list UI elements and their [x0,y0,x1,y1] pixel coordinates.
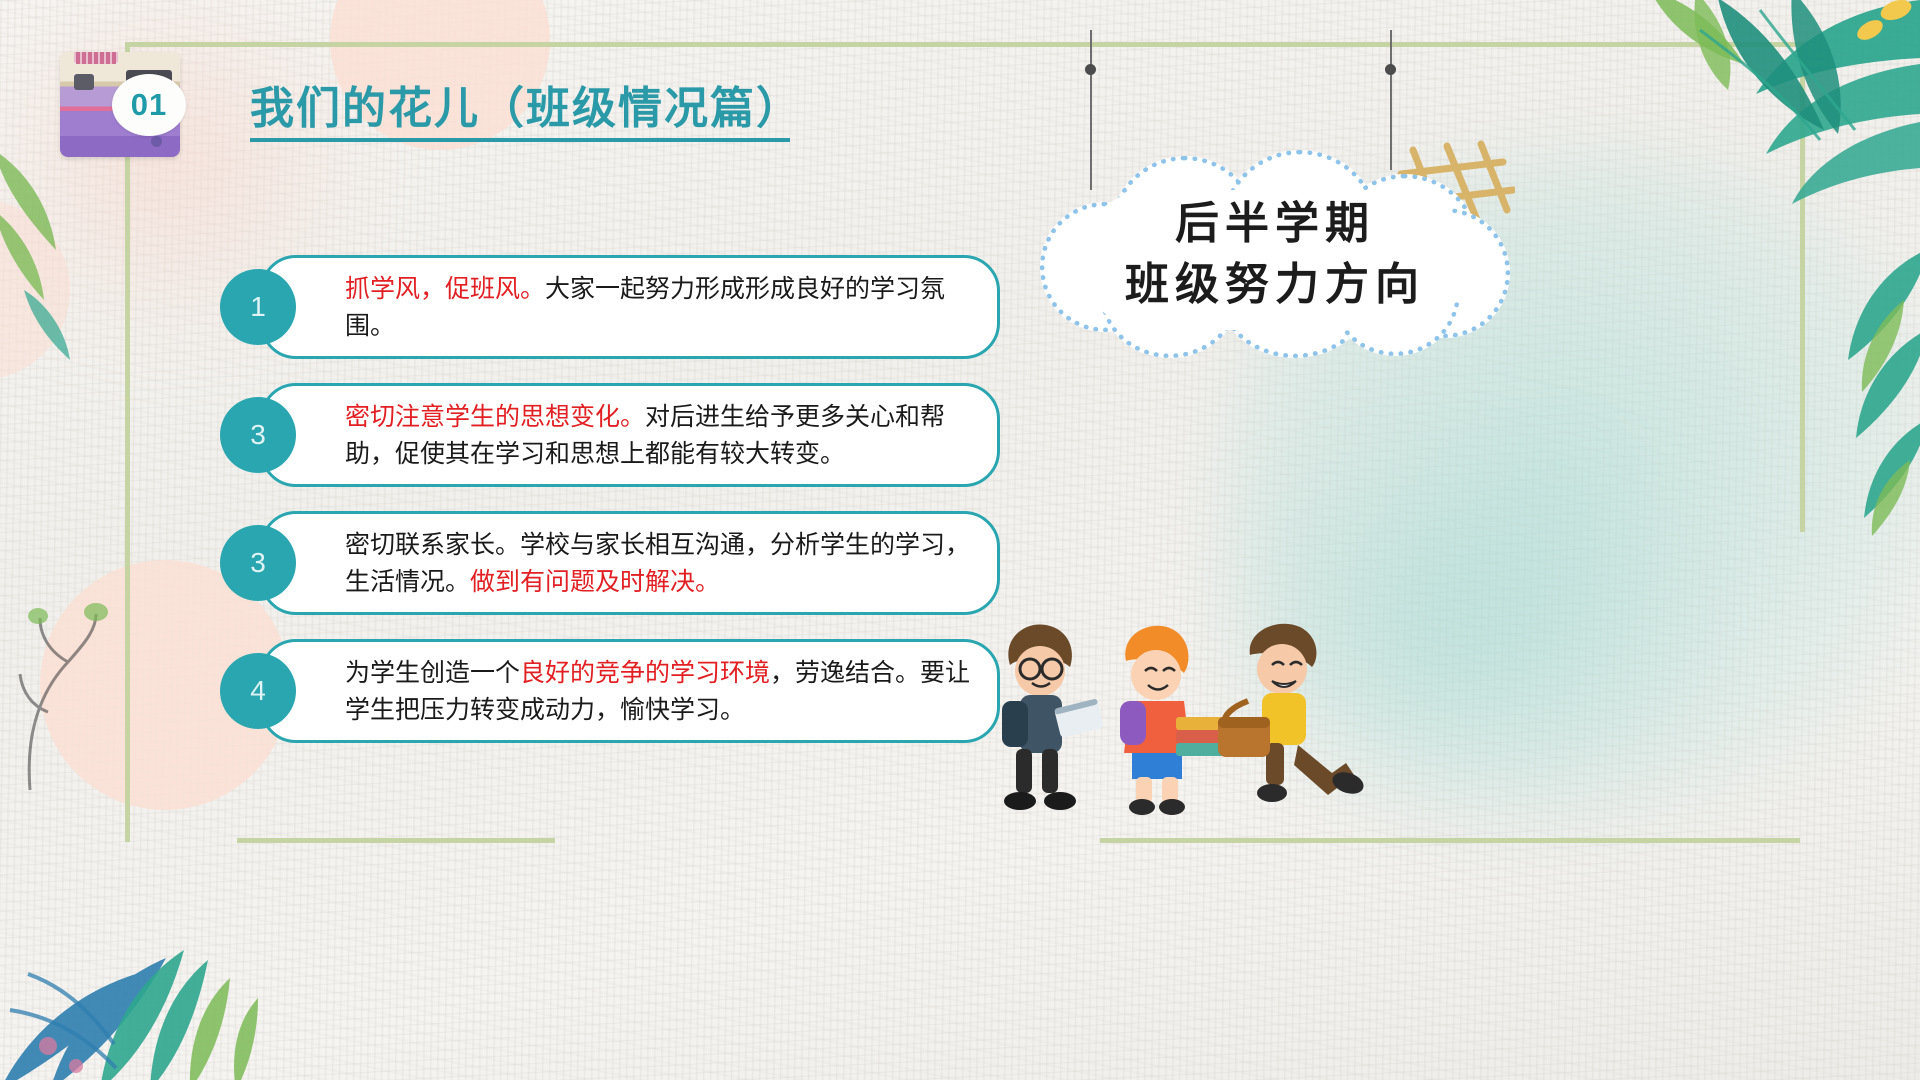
list-item-number: 3 [220,525,296,601]
frame-rule-top [125,42,1805,47]
fern-left-icon [0,150,124,360]
cloud-shape: 后半学期 班级努力方向 [1040,150,1510,360]
pin-right-icon [1385,64,1396,75]
content-list: 1 抓学风，促班风。大家一起努力形成形成良好的学习氛围。 3 密切注意学生的思想… [220,255,1000,767]
leaves-right-edge-icon [1786,240,1920,540]
list-item-box: 抓学风，促班风。大家一起努力形成形成良好的学习氛围。 [260,255,1000,359]
list-item[interactable]: 1 抓学风，促班风。大家一起努力形成形成良好的学习氛围。 [220,255,1000,359]
cloud-line-2: 班级努力方向 [1125,255,1425,316]
list-item-box: 为学生创造一个良好的竞争的学习环境，劳逸结合。要让学生把压力转变成动力，愉快学习… [260,639,1000,743]
hanging-string-right [1390,30,1392,170]
student-girl-middle [1120,626,1228,815]
students-illustration [980,605,1410,840]
page-title-wrap: 我们的花儿（班级情况篇） [250,72,802,142]
list-item-highlight-2: 良好的竞争的学习环境 [520,658,770,687]
list-item-number: 1 [220,269,296,345]
list-item-body-1: 为学生创造一个 [345,658,520,687]
frame-rule-right [1800,42,1805,532]
student-boy-right [1218,624,1366,802]
cloud-callout: 后半学期 班级努力方向 [1030,30,1530,360]
list-item-text: 密切联系家长。学校与家长相互沟通，分析学生的学习，生活情况。做到有问题及时解决。 [345,526,971,600]
pin-left-icon [1085,64,1096,75]
slide-canvas: 01 我们的花儿（班级情况篇） 1 抓学风，促班风。大家一起努力形成形成良好的学… [0,0,1920,1080]
cloud-line-1: 后半学期 [1175,194,1375,255]
list-item[interactable]: 3 密切联系家长。学校与家长相互沟通，分析学生的学习，生活情况。做到有问题及时解… [220,511,1000,615]
student-boy-left [1002,624,1104,810]
list-item[interactable]: 3 密切注意学生的思想变化。对后进生给予更多关心和帮助，促使其在学习和思想上都能… [220,383,1000,487]
section-number-badge: 01 [112,74,186,136]
list-item-highlight-1: 抓学风，促班风。 [345,274,545,303]
frame-rule-left [125,42,130,842]
frame-rule-bottom-left [237,838,555,843]
list-item-text: 抓学风，促班风。大家一起努力形成形成良好的学习氛围。 [345,270,971,344]
page-title-underline [250,138,790,142]
list-item-number: 3 [220,397,296,473]
list-item-number: 4 [220,653,296,729]
list-item-box: 密切联系家长。学校与家长相互沟通，分析学生的学习，生活情况。做到有问题及时解决。 [260,511,1000,615]
list-item-highlight-1: 密切注意学生的思想变化。 [345,402,645,431]
list-item-text: 密切注意学生的思想变化。对后进生给予更多关心和帮助，促使其在学习和思想上都能有较… [345,398,971,472]
list-item-highlight-2: 做到有问题及时解决。 [470,567,720,596]
list-item-text: 为学生创造一个良好的竞争的学习环境，劳逸结合。要让学生把压力转变成动力，愉快学习… [345,654,971,728]
fern-left-lower-icon [10,600,130,790]
cloud-callout-text: 后半学期 班级努力方向 [1040,150,1510,360]
page-title: 我们的花儿（班级情况篇） [250,72,802,136]
list-item-box: 密切注意学生的思想变化。对后进生给予更多关心和帮助，促使其在学习和思想上都能有较… [260,383,1000,487]
decor-circle-peach-left [0,200,70,380]
leaves-bottom-left-icon [0,760,320,1080]
slide-header: 01 我们的花儿（班级情况篇） [60,52,860,162]
list-item[interactable]: 4 为学生创造一个良好的竞争的学习环境，劳逸结合。要让学生把压力转变成动力，愉快… [220,639,1000,743]
